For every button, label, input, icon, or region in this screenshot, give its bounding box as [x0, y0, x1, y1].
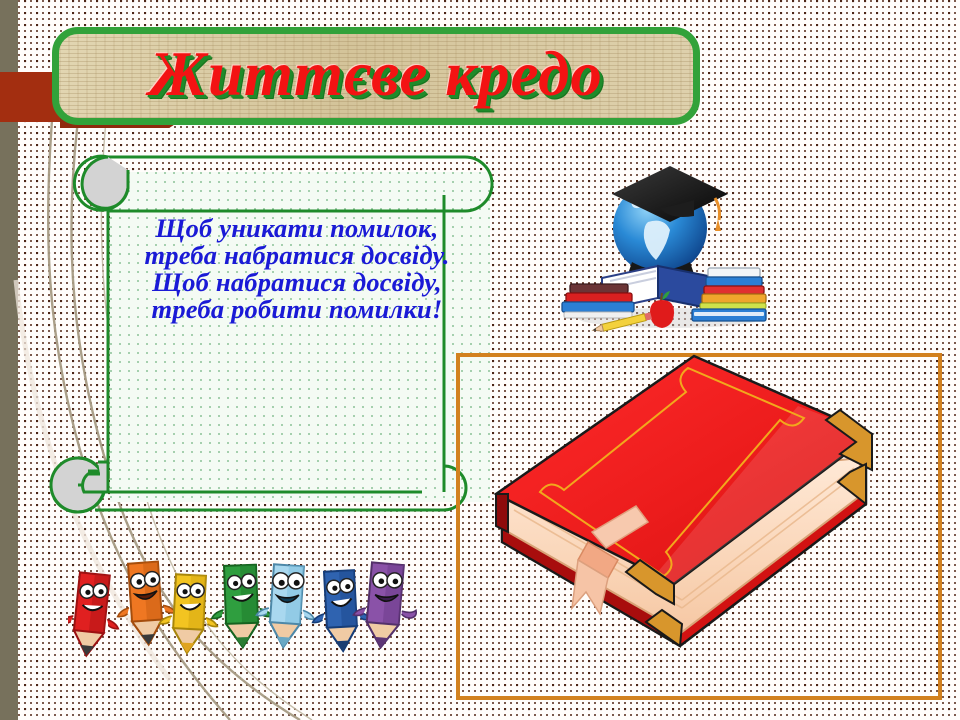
- quote-scroll-frame: Щоб уникати помилок, треба набратися дос…: [40, 140, 510, 525]
- globe-graduation-image: [560, 150, 780, 335]
- page-title: Життєве кредо: [149, 43, 603, 106]
- slide-canvas: Життєве кредо: [0, 0, 960, 720]
- quote-text: Щоб уникати помилок, треба набратися дос…: [112, 215, 482, 323]
- cartoon-pencils-image: [68, 558, 428, 658]
- title-banner: Життєве кредо: [52, 27, 700, 125]
- red-book-image: [468, 346, 908, 686]
